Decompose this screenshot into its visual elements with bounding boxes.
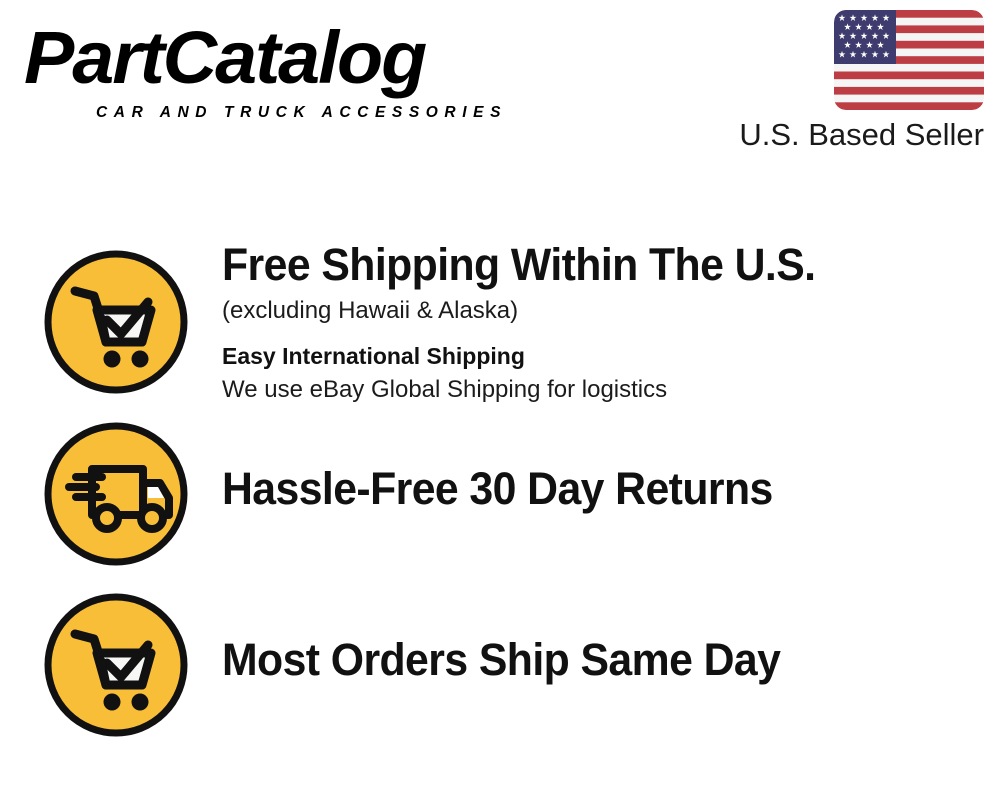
- delivery-truck-icon: [42, 420, 190, 568]
- benefit-title: Hassle-Free 30 Day Returns: [222, 462, 925, 516]
- benefit-title: Most Orders Ship Same Day: [222, 633, 925, 687]
- us-based-seller-badge: U.S. Based Seller: [714, 10, 984, 154]
- benefit-secondary-heading: Easy International Shipping: [222, 340, 962, 372]
- benefit-row: Free Shipping Within The U.S. (excluding…: [0, 236, 1000, 408]
- brand-tagline: CAR AND TRUCK ACCESSORIES: [96, 104, 507, 122]
- benefit-text-block: Most Orders Ship Same Day: [222, 633, 962, 687]
- benefit-row: Most Orders Ship Same Day: [0, 579, 1000, 751]
- benefit-title: Free Shipping Within The U.S.: [222, 238, 925, 292]
- benefit-text-block: Free Shipping Within The U.S. (excluding…: [222, 238, 962, 406]
- us-based-seller-label: U.S. Based Seller: [714, 116, 984, 154]
- shopping-cart-check-icon: [42, 248, 190, 396]
- shopping-cart-check-icon: [42, 591, 190, 739]
- benefit-text-block: Hassle-Free 30 Day Returns: [222, 462, 962, 516]
- brand-logo[interactable]: PartCatalog CAR AND TRUCK ACCESSORIES: [24, 18, 494, 118]
- benefit-secondary-text: We use eBay Global Shipping for logistic…: [222, 373, 962, 406]
- page-header: PartCatalog CAR AND TRUCK ACCESSORIES: [0, 0, 1000, 180]
- us-flag-icon: [834, 10, 984, 110]
- benefit-subtitle: (excluding Hawaii & Alaska): [222, 294, 962, 328]
- brand-wordmark: PartCatalog: [24, 14, 425, 102]
- benefit-row: Hassle-Free 30 Day Returns: [0, 408, 1000, 580]
